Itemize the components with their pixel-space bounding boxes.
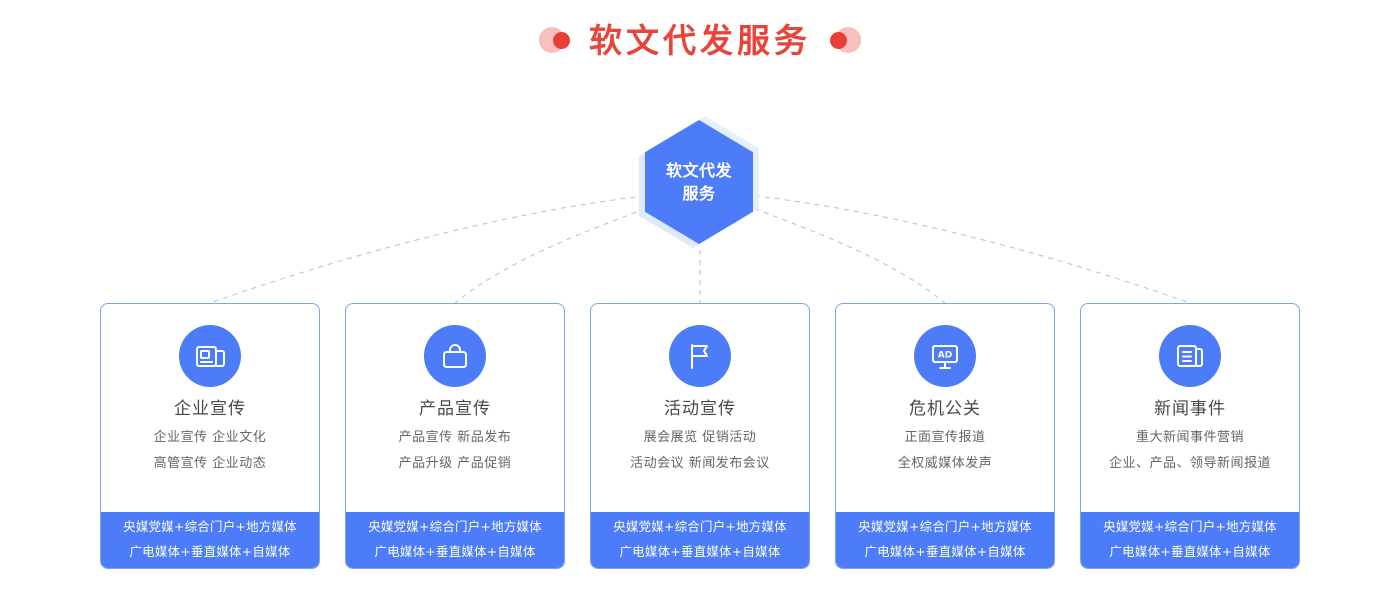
- title-decoration-right: [817, 26, 869, 54]
- service-card-news-event[interactable]: 新闻事件 重大新闻事件营销 企业、产品、领导新闻报道 央媒党媒+综合门户+地方媒…: [1080, 303, 1300, 569]
- service-card-activity[interactable]: 活动宣传 展会展览 促销活动 活动会议 新闻发布会议 央媒党媒+综合门户+地方媒…: [590, 303, 810, 569]
- card-footer-line-1: 央媒党媒+综合门户+地方媒体: [858, 521, 1032, 534]
- service-card-product[interactable]: 产品宣传 产品宣传 新品发布 产品升级 产品促销 央媒党媒+综合门户+地方媒体 …: [345, 303, 565, 569]
- card-footer-line-1: 央媒党媒+综合门户+地方媒体: [368, 521, 542, 534]
- card-title: 危机公关: [909, 401, 981, 418]
- card-subtitle-1: 重大新闻事件营销: [1136, 431, 1244, 444]
- flag-icon: [669, 325, 731, 387]
- service-card-enterprise[interactable]: 企业宣传 企业宣传 企业文化 高管宣传 企业动态 央媒党媒+综合门户+地方媒体 …: [100, 303, 320, 569]
- card-footer-line-2: 广电媒体+垂直媒体+自媒体: [619, 546, 780, 559]
- hub-label: 软文代发 服务: [645, 120, 753, 244]
- card-subtitle-2: 活动会议 新闻发布会议: [630, 457, 770, 470]
- title-decoration-left: [531, 26, 583, 54]
- card-footer: 央媒党媒+综合门户+地方媒体 广电媒体+垂直媒体+自媒体: [1081, 512, 1299, 568]
- card-footer: 央媒党媒+综合门户+地方媒体 广电媒体+垂直媒体+自媒体: [101, 512, 319, 568]
- card-subtitle-2: 企业、产品、领导新闻报道: [1109, 457, 1271, 470]
- card-subtitle-1: 产品宣传 新品发布: [399, 431, 512, 444]
- card-footer-line-2: 广电媒体+垂直媒体+自媒体: [864, 546, 1025, 559]
- card-subtitle-1: 企业宣传 企业文化: [154, 431, 267, 444]
- card-subtitle-1: 正面宣传报道: [904, 431, 985, 444]
- deco-solid-dot-icon: [553, 32, 570, 49]
- connector-to-card-5: [755, 196, 1190, 303]
- service-card-crisis-pr[interactable]: AD 危机公关 正面宣传报道 全权威媒体发声 央媒党媒+综合门户+地方媒体 广电…: [835, 303, 1055, 569]
- card-subtitle-2: 高管宣传 企业动态: [154, 457, 267, 470]
- svg-text:AD: AD: [938, 351, 952, 361]
- card-footer-line-2: 广电媒体+垂直媒体+自媒体: [374, 546, 535, 559]
- card-footer-line-2: 广电媒体+垂直媒体+自媒体: [1109, 546, 1270, 559]
- page-title-bar: 软文代发服务: [0, 16, 1400, 64]
- card-title: 产品宣传: [419, 401, 491, 418]
- card-footer: 央媒党媒+综合门户+地方媒体 广电媒体+垂直媒体+自媒体: [346, 512, 564, 568]
- card-footer-line-1: 央媒党媒+综合门户+地方媒体: [123, 521, 297, 534]
- card-footer-line-1: 央媒党媒+综合门户+地方媒体: [1103, 521, 1277, 534]
- hub-label-line-1: 软文代发: [666, 159, 732, 182]
- card-title: 新闻事件: [1154, 401, 1226, 418]
- page-title: 软文代发服务: [583, 24, 817, 57]
- card-title: 活动宣传: [664, 401, 736, 418]
- card-footer-line-1: 央媒党媒+综合门户+地方媒体: [613, 521, 787, 534]
- card-footer-line-2: 广电媒体+垂直媒体+自媒体: [129, 546, 290, 559]
- connector-to-card-4: [745, 205, 945, 303]
- shopping-bag-icon: [424, 325, 486, 387]
- card-subtitle-1: 展会展览 促销活动: [644, 431, 757, 444]
- card-footer: 央媒党媒+综合门户+地方媒体 广电媒体+垂直媒体+自媒体: [836, 512, 1054, 568]
- ad-billboard-icon: AD: [914, 325, 976, 387]
- hub-hexagon: 软文代发 服务: [635, 116, 765, 256]
- card-footer: 央媒党媒+综合门户+地方媒体 广电媒体+垂直媒体+自媒体: [591, 512, 809, 568]
- news-document-icon: [1159, 325, 1221, 387]
- hub-label-line-2: 服务: [682, 182, 715, 205]
- card-subtitle-2: 全权威媒体发声: [898, 457, 993, 470]
- connector-to-card-2: [455, 205, 655, 303]
- card-title: 企业宣传: [174, 401, 246, 418]
- service-card-list: 企业宣传 企业宣传 企业文化 高管宣传 企业动态 央媒党媒+综合门户+地方媒体 …: [100, 303, 1300, 569]
- newspaper-icon: [179, 325, 241, 387]
- deco-solid-dot-icon: [830, 32, 847, 49]
- connector-to-card-1: [210, 196, 645, 303]
- card-subtitle-2: 产品升级 产品促销: [399, 457, 512, 470]
